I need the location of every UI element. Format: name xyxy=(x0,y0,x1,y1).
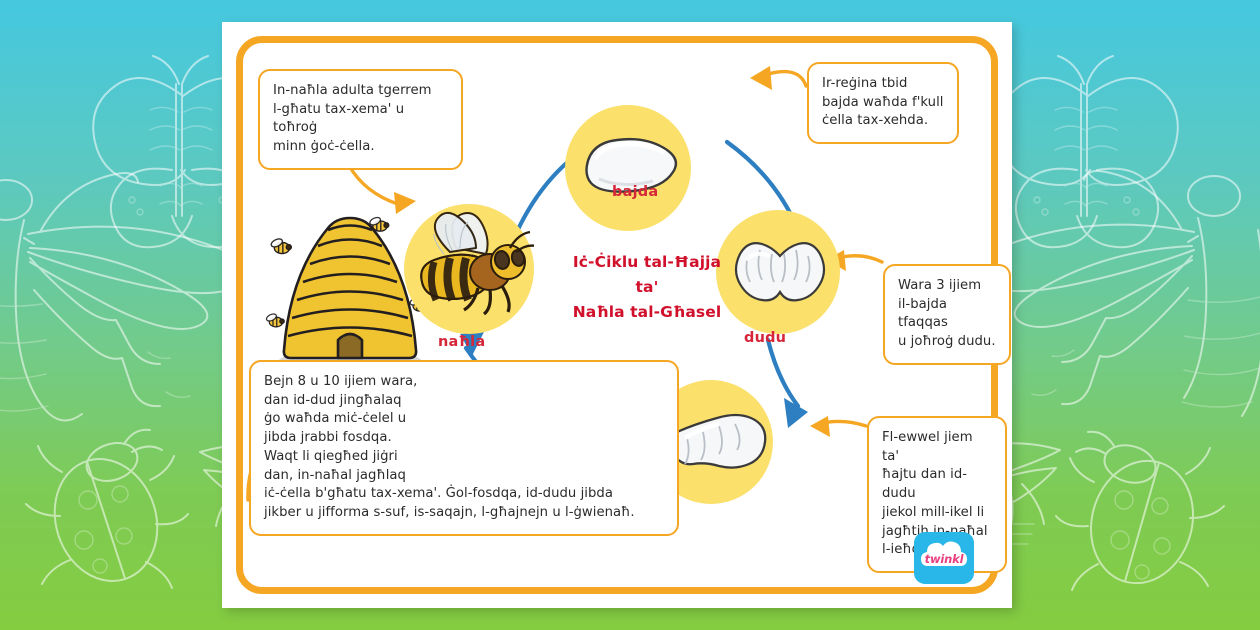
adult-honey-bee-icon xyxy=(404,204,534,334)
callout-hatch-line-1: Wara 3 ijiem xyxy=(898,277,996,296)
diagram-title: Iċ-Ċiklu tal-Ħajja ta' Naħla tal-Għasel xyxy=(547,250,747,325)
callout-pupation-line-5: Waqt li qiegħed jiġri xyxy=(264,448,664,467)
callout-queen-egg: Ir-reġina tbid bajda waħda f'kull ċella … xyxy=(807,62,959,144)
callout-pupation-line-3: ġo waħda miċ-ċelel u xyxy=(264,410,664,429)
ladybug-left-icon xyxy=(26,430,188,595)
callout-pupation-line-1: Bejn 8 u 10 ijiem wara, xyxy=(264,373,664,392)
bee-right-icon xyxy=(975,171,1260,416)
callout-feeding-line-2: ħajtu dan id-dudu xyxy=(882,466,992,503)
stage-label-bajda: bajda xyxy=(612,184,658,200)
diagram-title-line-3: Naħla tal-Għasel xyxy=(547,300,747,325)
callout-feeding-line-3: jiekol mill-ikel li xyxy=(882,504,992,523)
callout-queen-line-3: ċella tax-xehda. xyxy=(822,112,944,131)
callout-arrow-queen xyxy=(750,66,806,90)
callout-adult-line-1: In-naħla adulta tgerrem xyxy=(273,82,448,101)
callout-pupation-line-4: jibda jrabbi fosdqa. xyxy=(264,429,664,448)
callout-queen-line-2: bajda waħda f'kull xyxy=(822,94,944,113)
callout-pupation-line-2: dan id-dud jingħalaq xyxy=(264,392,664,411)
callout-pupation-line-6: dan, in-naħal jagħlaq xyxy=(264,467,664,486)
stage-label-dudu: dudu xyxy=(744,330,786,346)
stage-circle-nahla xyxy=(404,204,534,334)
callout-pupation-line-8: jikber u jifforma s-suf, is-saqajn, l-għ… xyxy=(264,504,664,523)
callout-pupation-line-7: iċ-ċella b'għatu tax-xema'. Ġol-fosdqa, … xyxy=(264,485,664,504)
stage-label-nahla: naħla xyxy=(438,334,485,350)
cycle-arrow-larva-to-larva2 xyxy=(768,340,808,428)
diagram-title-line-2: ta' xyxy=(547,275,747,300)
callout-hatch-line-3: u joħroġ dudu. xyxy=(898,333,996,352)
butterfly-right-icon xyxy=(998,56,1178,247)
callout-adult-line-2: l-għatu tax-xema' u toħroġ xyxy=(273,101,448,138)
twinkl-logo: twinkl xyxy=(914,532,974,584)
bee-left-icon xyxy=(0,173,247,420)
callout-adult-bee: In-naħla adulta tgerrem l-għatu tax-xema… xyxy=(258,69,463,170)
callout-queen-line-1: Ir-reġina tbid xyxy=(822,75,944,94)
ladybug-right-icon xyxy=(1056,432,1224,596)
life-cycle-diagram: bajda dudu xyxy=(222,22,1012,608)
callout-feeding-line-1: Fl-ewwel jiem ta' xyxy=(882,429,992,466)
callout-adult-line-3: minn ġoċ-ċella. xyxy=(273,138,448,157)
callout-egg-hatch: Wara 3 ijiem il-bajda tfaqqas u joħroġ d… xyxy=(883,264,1011,365)
stage-circle-bajda xyxy=(565,105,691,231)
callout-pupation: Bejn 8 u 10 ijiem wara, dan id-dud jingħ… xyxy=(249,360,679,536)
diagram-title-line-1: Iċ-Ċiklu tal-Ħajja xyxy=(547,250,747,275)
bee-egg-icon xyxy=(565,105,691,231)
twinkl-wordmark: twinkl xyxy=(914,552,974,566)
callout-hatch-line-2: il-bajda tfaqqas xyxy=(898,296,996,333)
callout-arrow-feeding xyxy=(810,416,866,437)
